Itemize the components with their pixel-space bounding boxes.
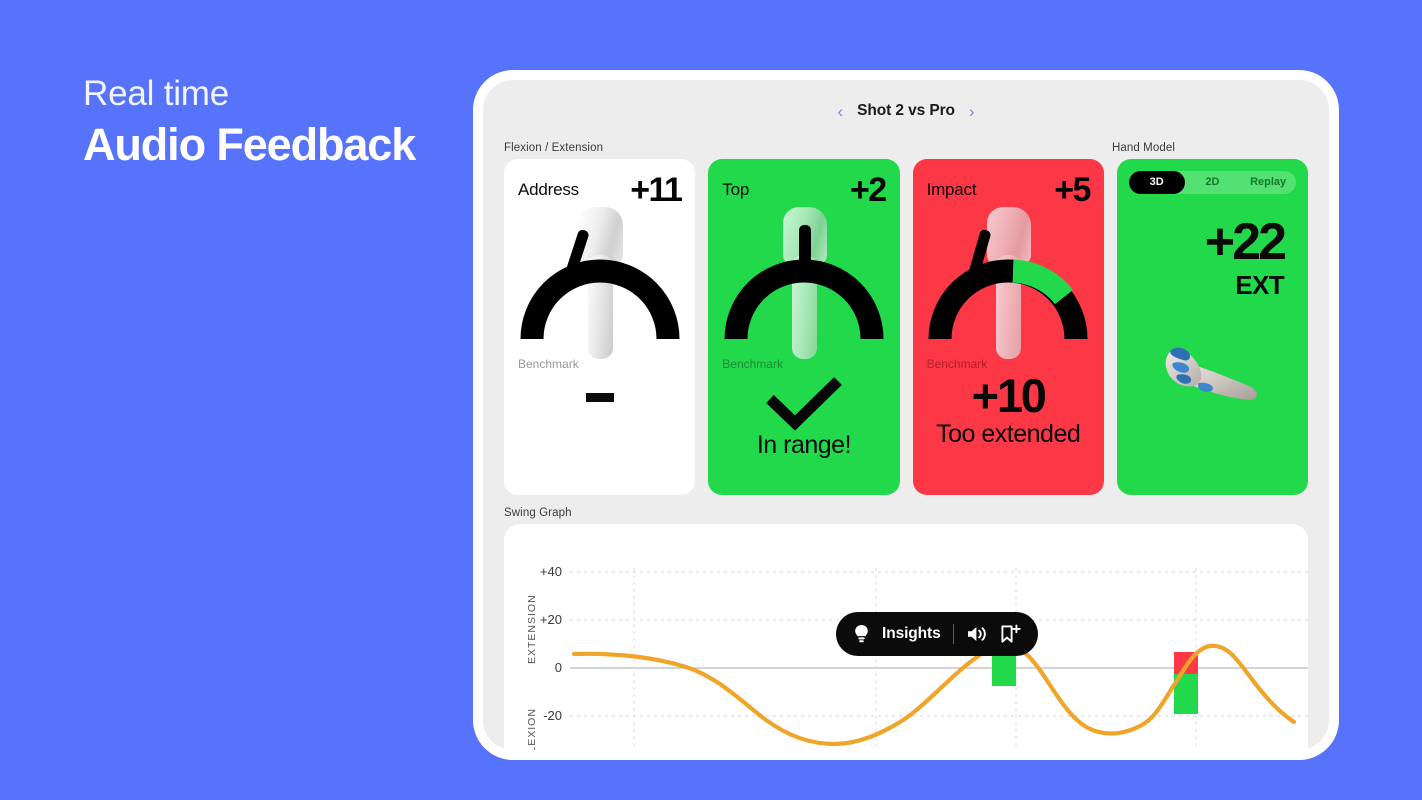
axis-label-flexion: FLEXION <box>526 708 538 760</box>
ytick-20: +20 <box>540 612 562 627</box>
promo-line-2: Audio Feedback <box>83 118 463 173</box>
gauge-top <box>722 213 885 353</box>
app-screen: ‹ Shot 2 vs Pro › Flexion / Extension Ha… <box>483 80 1329 750</box>
chevron-left-icon[interactable]: ‹ <box>837 103 843 120</box>
card-footer: +10 Too extended <box>913 373 1104 495</box>
benchmark-label: Benchmark <box>722 357 885 371</box>
axis-label-extension: EXTENSION <box>526 594 538 664</box>
pill-divider <box>953 624 954 644</box>
segment-3d[interactable]: 3D <box>1129 171 1185 194</box>
gauge-impact <box>927 213 1090 353</box>
card-header: Impact +5 <box>927 173 1090 207</box>
card-title: Top <box>722 173 749 200</box>
card-header: Top +2 <box>722 173 885 207</box>
gauge-address <box>518 213 681 353</box>
card-value: +5 <box>1054 173 1090 207</box>
shot-title: Shot 2 vs Pro <box>857 102 955 120</box>
hand-model-unit: EXT <box>1129 270 1296 301</box>
hand-3d-model-icon[interactable] <box>1155 335 1265 405</box>
segment-replay[interactable]: Replay <box>1240 171 1296 194</box>
metric-card-top[interactable]: Top +2 Benchmark <box>708 159 899 495</box>
card-value: +11 <box>630 173 681 207</box>
metric-card-address[interactable]: Address +11 Benchmark <box>504 159 695 495</box>
hand-model-label: Hand Model <box>1112 142 1308 154</box>
checkmark-icon <box>762 375 846 431</box>
gauge-arc-icon <box>720 213 888 353</box>
card-value: +2 <box>850 173 886 207</box>
no-delta-indicator <box>586 393 614 402</box>
ytick-0: 0 <box>555 660 562 675</box>
card-title: Impact <box>927 173 977 200</box>
insights-pill[interactable]: Insights <box>836 612 1038 656</box>
segment-2d[interactable]: 2D <box>1185 171 1241 194</box>
ytick-40: +40 <box>540 564 562 579</box>
gauge-range-highlight <box>1013 271 1064 297</box>
flexion-extension-label: Flexion / Extension <box>504 142 1112 154</box>
section-label-row: Flexion / Extension Hand Model <box>504 142 1308 159</box>
gauge-arc-icon <box>516 213 684 353</box>
speaker-volume-icon[interactable] <box>966 624 988 644</box>
card-status-text: Too extended <box>936 420 1080 449</box>
card-header: Address +11 <box>518 173 681 207</box>
shot-navigation: ‹ Shot 2 vs Pro › <box>504 80 1308 142</box>
gauge-arc-icon <box>924 213 1092 353</box>
card-footer: In range! <box>708 373 899 495</box>
hand-model-value: +22 <box>1129 216 1296 268</box>
view-mode-segmented-control[interactable]: 3D 2D Replay <box>1129 171 1296 194</box>
hand-model-panel[interactable]: 3D 2D Replay +22 EXT <box>1117 159 1308 495</box>
card-status-text: In range! <box>757 431 851 460</box>
swing-graph-label: Swing Graph <box>504 507 1308 519</box>
chevron-right-icon[interactable]: › <box>969 103 975 120</box>
ytick-minus20: -20 <box>543 708 562 723</box>
bookmark-plus-icon[interactable] <box>1000 624 1021 645</box>
benchmark-label: Benchmark <box>518 357 681 371</box>
card-footer <box>504 373 695 495</box>
card-delta-value: +10 <box>972 371 1045 420</box>
metric-card-row: Address +11 Benchmark <box>504 159 1308 495</box>
lightbulb-icon <box>853 624 870 644</box>
promo-text: Real time Audio Feedback <box>83 72 463 173</box>
swing-graph-card[interactable]: EXTENSION FLEXION +40 +20 0 -20 <box>504 524 1308 760</box>
promo-line-1: Real time <box>83 72 463 116</box>
metric-card-impact[interactable]: Impact +5 Benchmark +10 <box>913 159 1104 495</box>
insights-label: Insights <box>882 625 941 643</box>
card-title: Address <box>518 173 579 200</box>
tablet-device: ‹ Shot 2 vs Pro › Flexion / Extension Ha… <box>473 70 1339 760</box>
